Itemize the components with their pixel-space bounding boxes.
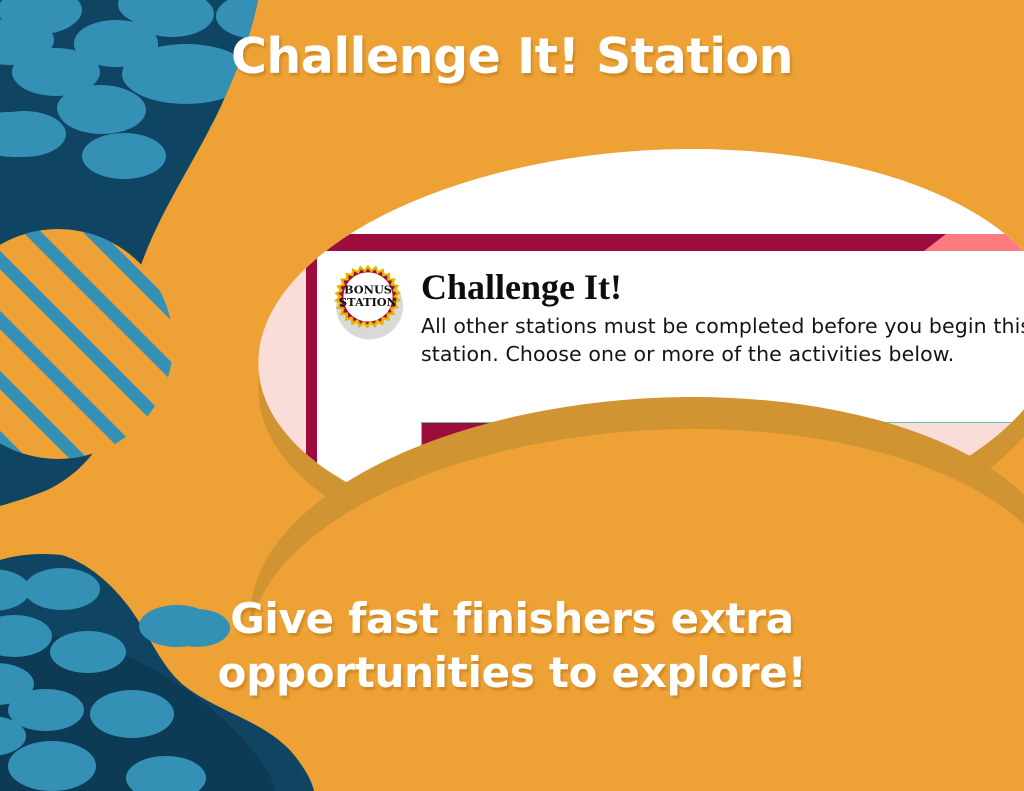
page-subtitle-line-2: opportunities to explore! <box>0 646 1024 700</box>
bonus-station-seal-icon: BONUS STATION <box>329 263 407 341</box>
slide-canvas: Challenge It! Station <box>0 0 1024 791</box>
worksheet-left-rule <box>306 234 317 486</box>
worksheet-title: Challenge It! <box>421 266 622 308</box>
page-subtitle: Give fast finishers extra opportunities … <box>0 592 1024 700</box>
worksheet-instructions: All other stations must be completed bef… <box>421 313 1024 369</box>
seal-line-2: STATION <box>339 295 397 309</box>
worksheet-top-band <box>306 234 1024 251</box>
page-subtitle-line-1: Give fast finishers extra <box>230 594 794 643</box>
page-title: Challenge It! Station <box>0 31 1024 84</box>
worksheet-top-band-dark <box>306 234 946 251</box>
